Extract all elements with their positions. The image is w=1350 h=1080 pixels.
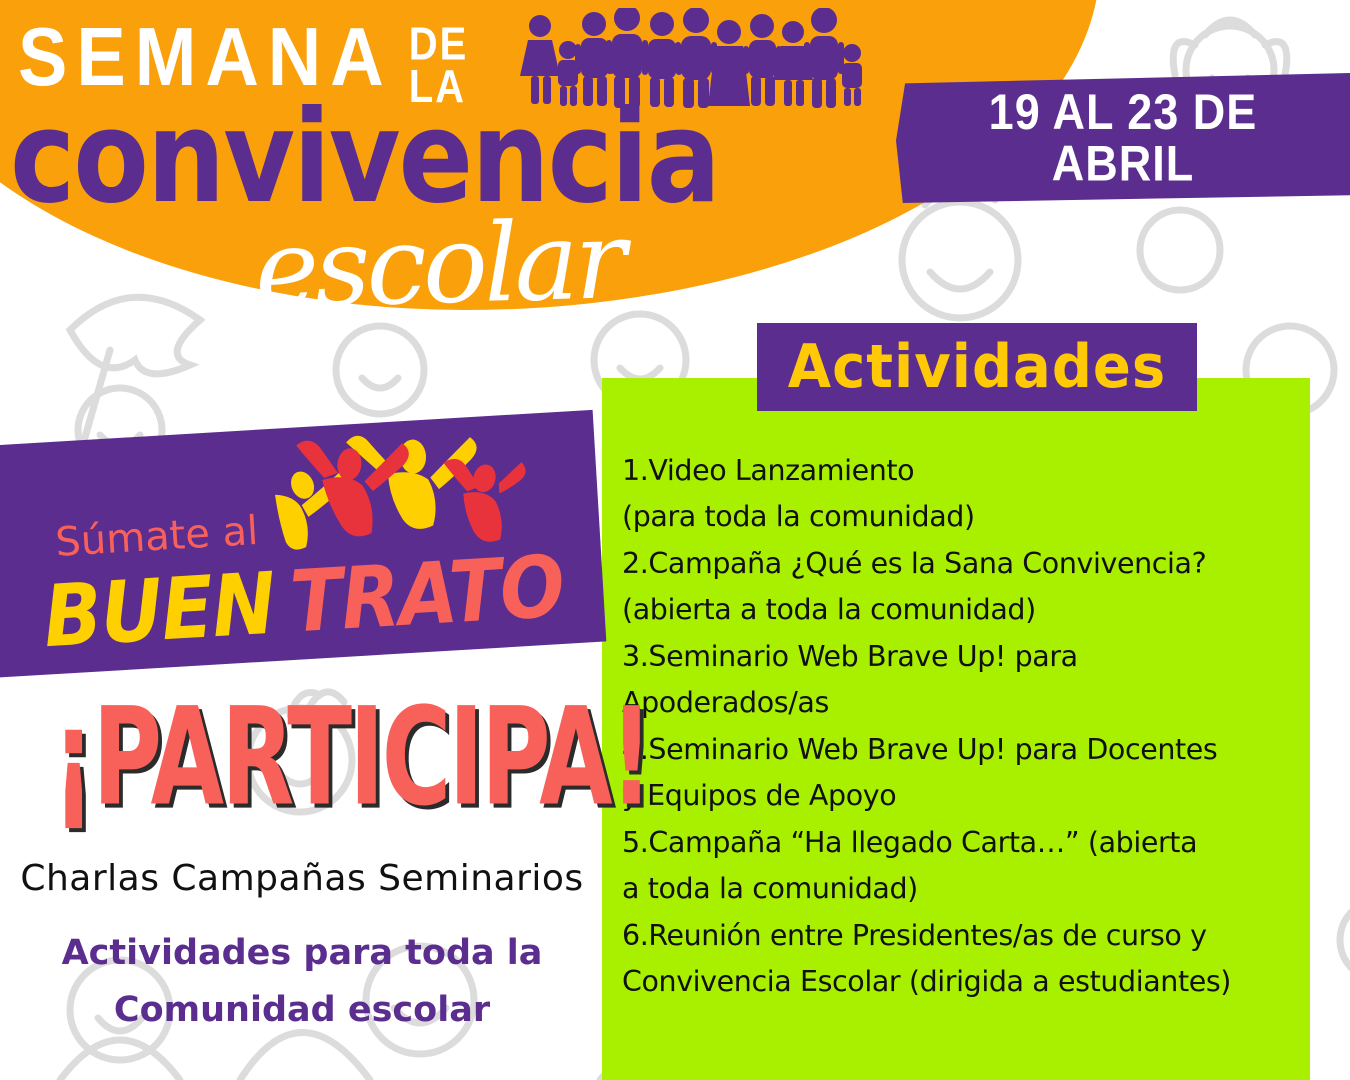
participa-headline: ¡PARTICIPA! (52, 678, 650, 836)
comunidad-line-2: Comunidad escolar (22, 982, 582, 1039)
activity-line: (para toda la comunidad) (622, 494, 1300, 540)
buen-trato-banner: Súmate al BUENTRATO (0, 410, 606, 678)
activity-line: 4.Seminario Web Brave Up! para Docentes (622, 727, 1300, 773)
activity-line: 1.Video Lanzamiento (622, 448, 1300, 494)
jumping-people-icon (264, 420, 531, 555)
activities-title: Actividades (788, 333, 1166, 402)
activity-line: 2.Campaña ¿Qué es la Sana Convivencia? (622, 541, 1300, 587)
date-badge: 19 AL 23 DE ABRIL (896, 73, 1350, 203)
activity-line: 5.Campaña “Ha llegado Carta…” (abierta (622, 820, 1300, 866)
activity-line: 6.Reunión entre Presidentes/as de curso … (622, 913, 1300, 959)
buen-word: BUEN (41, 553, 278, 666)
activity-line: Apoderados/as (622, 680, 1300, 726)
activity-line: a toda la comunidad) (622, 866, 1300, 912)
poster-canvas: SEMANA DE LA (0, 0, 1350, 1080)
activities-title-bar: Actividades (757, 323, 1197, 411)
charlas-campanas-seminarios-text: Charlas Campañas Seminarios (12, 858, 592, 899)
activity-line: 3.Seminario Web Brave Up! para (622, 634, 1300, 680)
date-badge-text: 19 AL 23 DE ABRIL (989, 87, 1258, 190)
comunidad-line-1: Actividades para toda la (22, 925, 582, 982)
de-word: DE (409, 24, 469, 66)
comunidad-escolar-block: Actividades para toda la Comunidad escol… (22, 925, 582, 1038)
trato-word: TRATO (288, 536, 567, 652)
activity-line: y Equipos de Apoyo (622, 773, 1300, 819)
activity-line: (abierta a toda la comunidad) (622, 587, 1300, 633)
activities-list: 1.Video Lanzamiento (para toda la comuni… (622, 448, 1300, 1005)
activity-line: Convivencia Escolar (dirigida a estudian… (622, 959, 1300, 1005)
escolar-script-word: escolar (254, 207, 624, 325)
